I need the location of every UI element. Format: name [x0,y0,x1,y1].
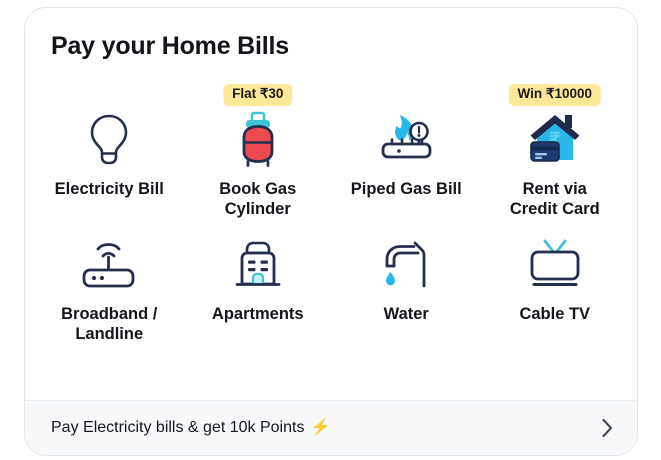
tile-label: Electricity Bill [55,179,164,199]
tile-book-gas-cylinder[interactable]: Flat ₹30 Book Gas Cylinder [184,86,333,219]
lightning-bolt-icon: ⚡ [310,420,330,436]
tile-label: Cable TV [519,304,590,324]
tile-label: Water [384,304,429,324]
offer-badge: Win ₹10000 [508,84,601,106]
router-wifi-icon [72,233,146,295]
gas-stove-icon [369,108,443,170]
tile-label: Apartments [212,304,304,324]
tile-cable-tv[interactable]: Cable TV [481,219,630,344]
tile-apartments[interactable]: Apartments [184,219,333,344]
card-body: Pay your Home Bills Electricity Bill Fla… [25,8,637,401]
gas-cylinder-icon [221,108,295,170]
tile-label: Book Gas Cylinder [219,179,296,219]
water-tap-icon [369,233,443,295]
apartment-building-icon [221,233,295,295]
offer-badge: Flat ₹30 [223,84,292,106]
bill-category-grid: Electricity Bill Flat ₹30 [35,86,629,345]
promo-footer-bar[interactable]: Pay Electricity bills & get 10k Points ⚡ [25,400,637,455]
promo-footer-text-wrap: Pay Electricity bills & get 10k Points ⚡ [51,419,330,437]
light-bulb-icon [72,108,146,170]
house-rupee-credit-card-icon: ₹ [518,108,592,170]
tile-rent-via-credit-card[interactable]: Win ₹10000 ₹ Rent via C [481,86,630,219]
tile-label: Broadband / Landline [61,304,157,344]
chevron-right-icon[interactable] [600,416,615,440]
page-title: Pay your Home Bills [51,32,289,61]
tile-piped-gas-bill[interactable]: Piped Gas Bill [332,86,481,219]
tile-broadband-landline[interactable]: Broadband / Landline [35,219,184,344]
tile-water[interactable]: Water [332,219,481,344]
promo-footer-text: Pay Electricity bills & get 10k Points [51,419,304,437]
tile-electricity-bill[interactable]: Electricity Bill [35,86,184,219]
tile-label: Piped Gas Bill [351,179,462,199]
home-bills-card: Pay your Home Bills Electricity Bill Fla… [24,7,638,456]
television-icon [518,233,592,295]
tile-label: Rent via Credit Card [510,179,600,219]
screen-root: Pay your Home Bills Electricity Bill Fla… [0,0,661,460]
